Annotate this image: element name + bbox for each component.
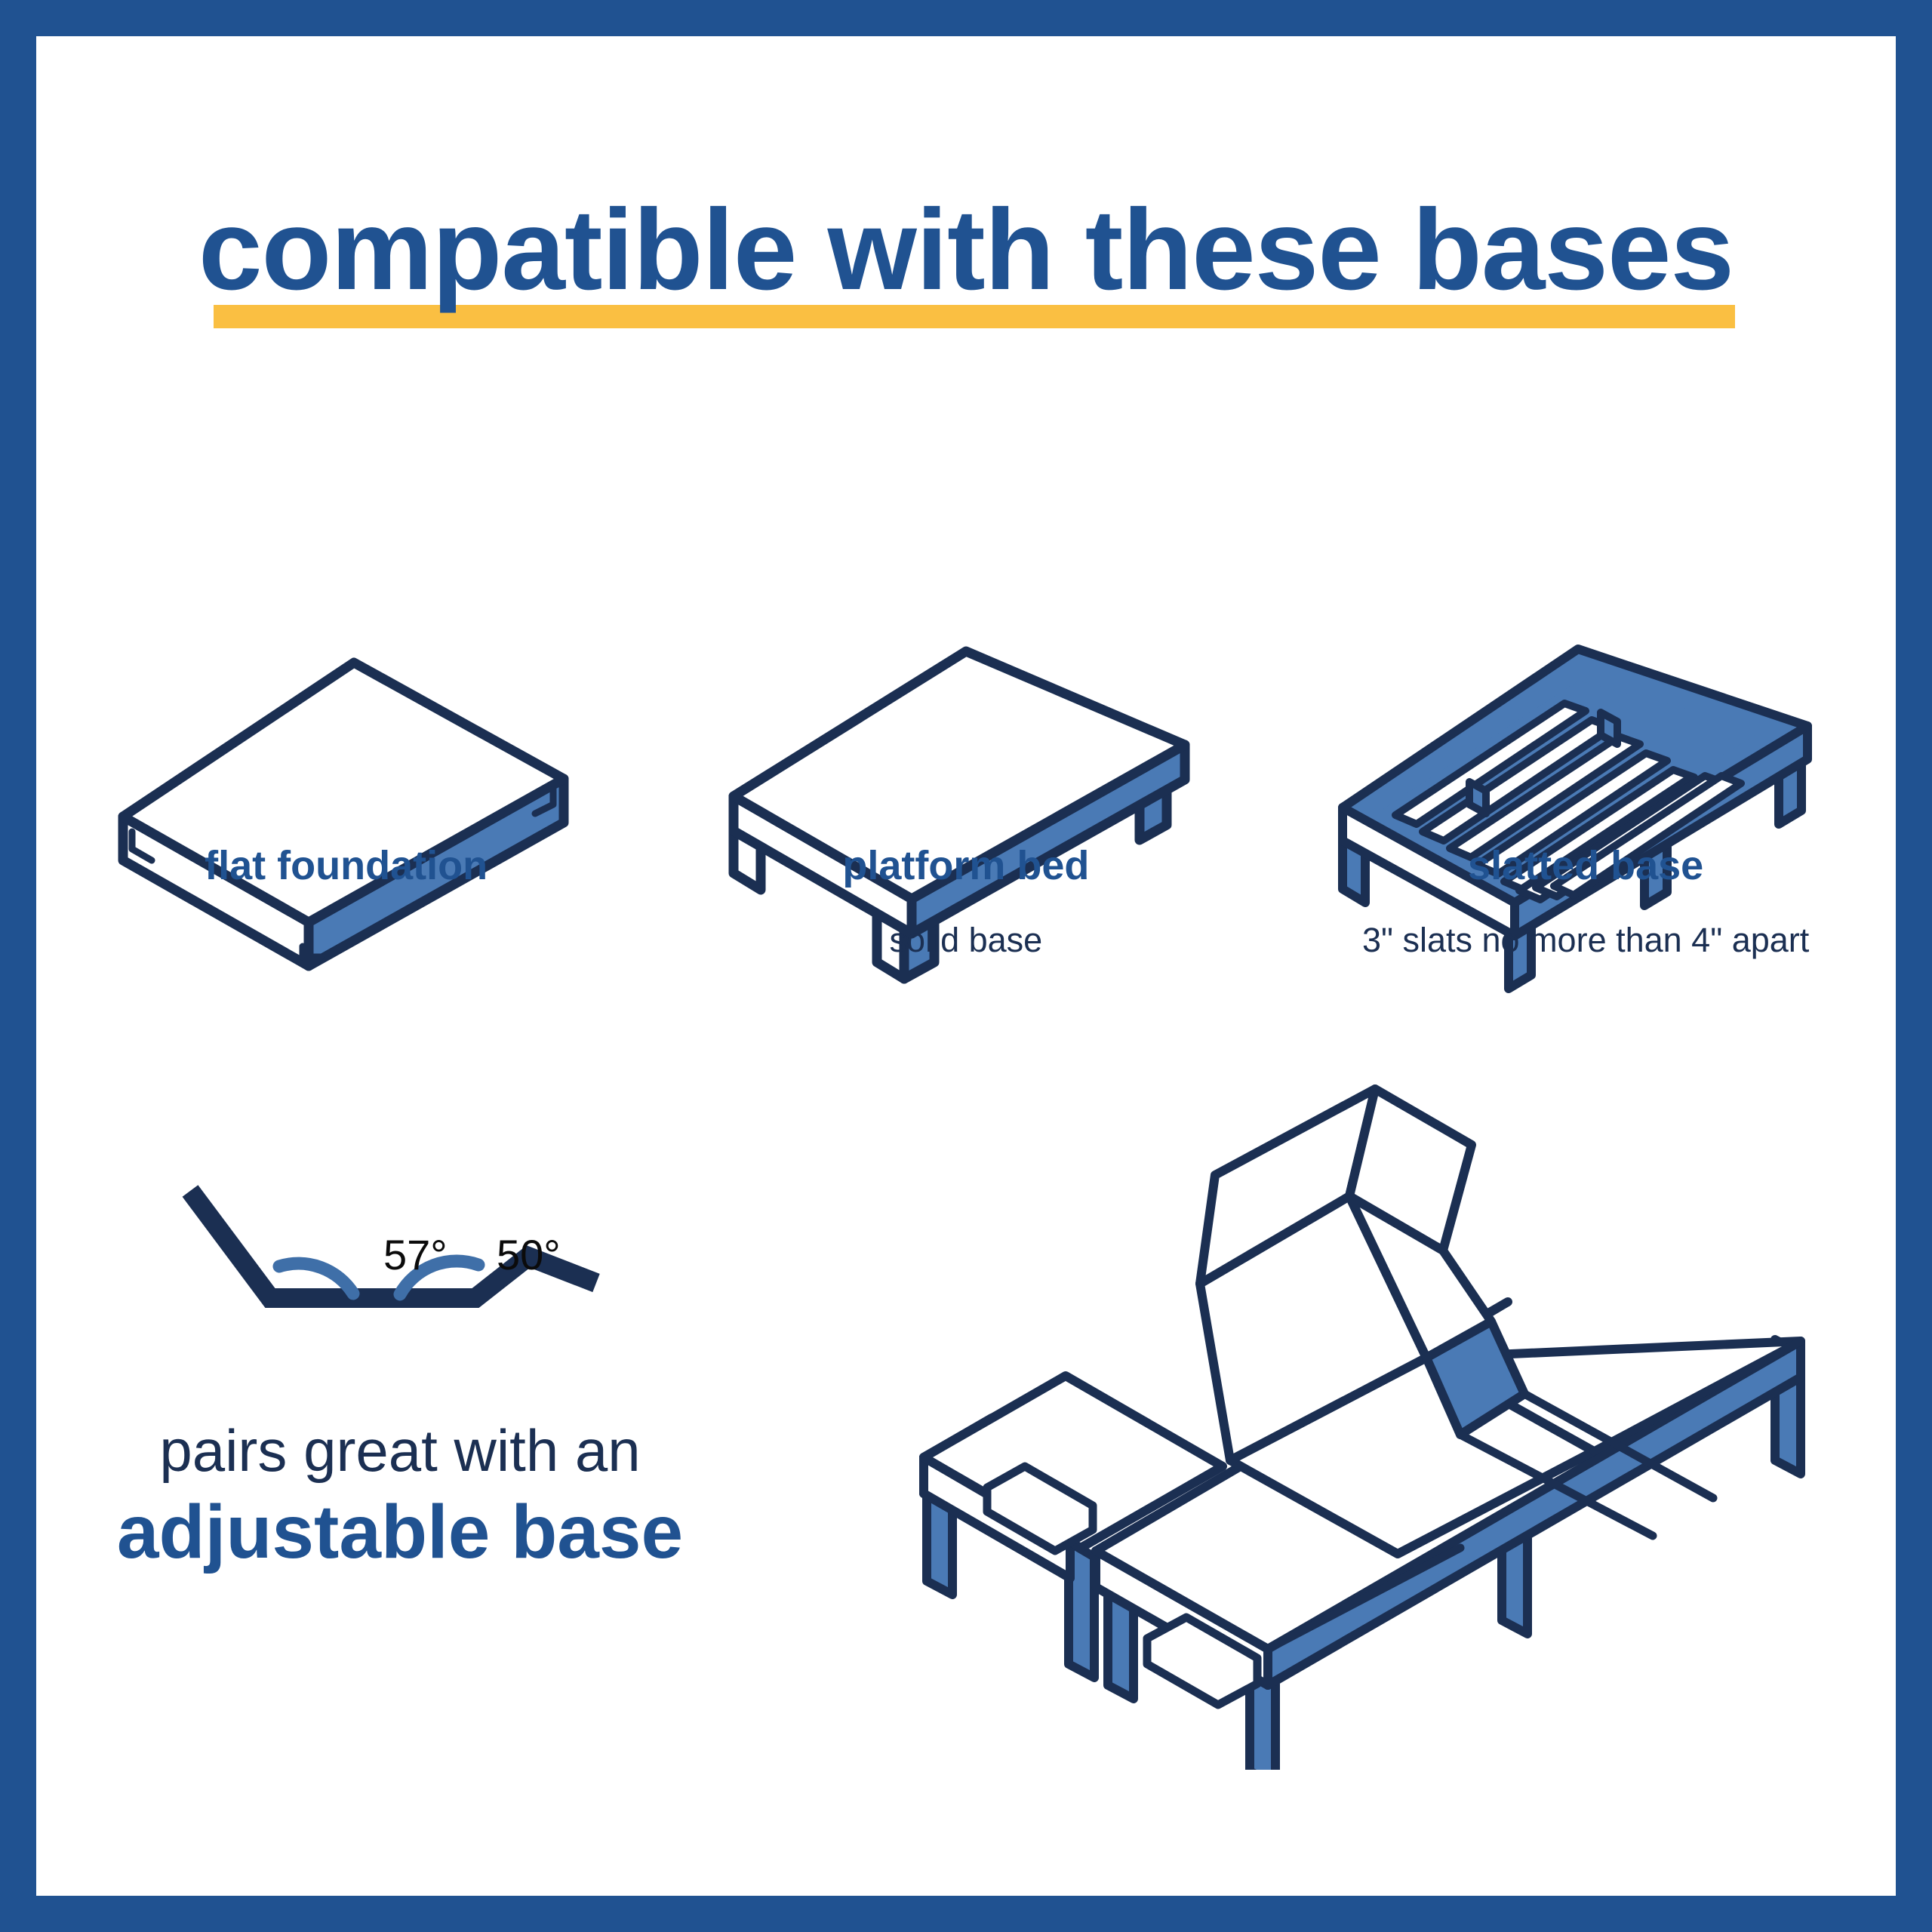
adjustable-caption-line2: adjustable base — [117, 1493, 683, 1572]
adjustable-base-icon — [898, 1053, 1894, 1770]
angle-value-foot: 50° — [497, 1230, 561, 1279]
base-label-slatted-base: slatted base — [1468, 845, 1703, 890]
infographic-page: compatible with these bases — [0, 0, 1932, 1932]
page-title: compatible with these bases — [0, 192, 1932, 307]
base-label-flat-foundation: flat foundation — [205, 845, 488, 890]
base-label-platform-bed: platform bed — [842, 845, 1089, 890]
label-group-slatted-base: slatted base 3" slats no more than 4" ap… — [1276, 845, 1896, 959]
base-subtitle-platform-bed: solid base — [890, 921, 1043, 959]
label-group-flat-foundation: flat foundation — [36, 845, 656, 959]
angle-value-head: 57° — [383, 1230, 448, 1279]
bases-label-row: flat foundation platform bed solid base … — [36, 845, 1896, 959]
recline-profile-icon — [174, 1177, 762, 1366]
adjustable-caption: pairs great with an adjustable base — [0, 1419, 800, 1572]
page-title-text: compatible with these bases — [198, 192, 1734, 307]
label-group-platform-bed: platform bed solid base — [656, 845, 1275, 959]
adjustable-caption-line1: pairs great with an — [0, 1419, 800, 1482]
base-subtitle-slatted-base: 3" slats no more than 4" apart — [1362, 921, 1809, 959]
